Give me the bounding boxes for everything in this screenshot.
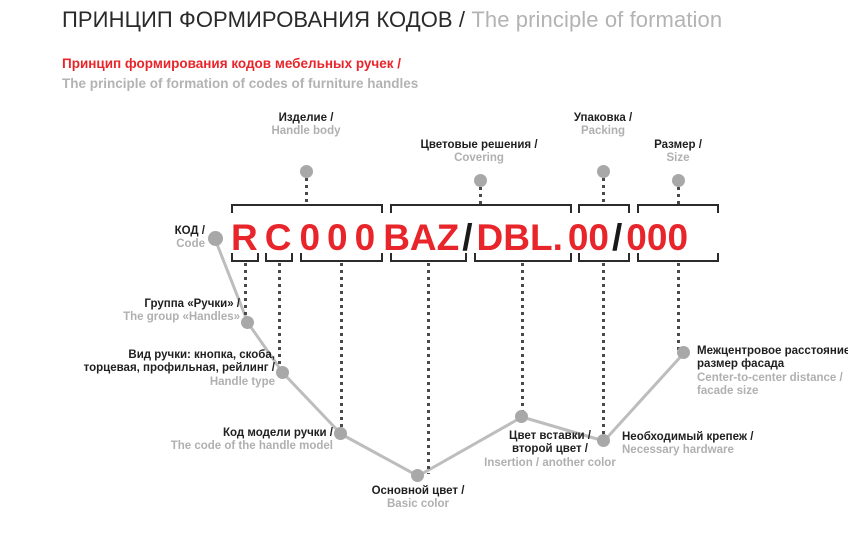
- bottom-bracket-center-distance: [637, 253, 719, 262]
- code-group-000: 000: [626, 219, 688, 256]
- label-hardware-en: Necessary hardware: [622, 444, 842, 457]
- bottom-bracket-group: [231, 253, 259, 262]
- label-handle-type: Вид ручки: кнопка, скоба, торцевая, проф…: [30, 349, 275, 389]
- code-slash-2: /: [612, 219, 622, 256]
- label-model-code-ru: Код модели ручки /: [128, 427, 333, 440]
- label-handle-type-en: Handle type: [30, 376, 275, 389]
- node-hardware: [597, 434, 610, 447]
- label-size-ru: Размер /: [578, 139, 778, 152]
- label-handle-body: Изделие / Handle body: [206, 112, 406, 139]
- leader-dots-hardware: [602, 263, 605, 439]
- label-group-handles: Группа «Ручки» / The group «Handles»: [42, 298, 240, 325]
- node-model-code: [334, 427, 347, 440]
- leader-dots-size: [677, 187, 680, 204]
- code-char-c: C: [265, 219, 292, 256]
- leader-dots-insertion: [521, 263, 524, 415]
- node-center-distance: [677, 346, 690, 359]
- label-insertion-color: Цвет вставки / второй цвет / Insertion /…: [450, 430, 650, 470]
- page-title-en: The principle of formation: [471, 7, 722, 32]
- code-char-r: R: [231, 219, 258, 256]
- node-basic-color: [411, 469, 424, 482]
- node-code: [208, 231, 223, 246]
- code-dot: .: [553, 219, 563, 256]
- code-char-0a: 0: [299, 219, 320, 256]
- label-hardware-ru: Необходимый крепеж /: [622, 431, 842, 444]
- code-char-0c: 0: [355, 219, 376, 256]
- top-bracket-size: [637, 204, 719, 213]
- label-center-distance-ru-2: размер фасада: [697, 358, 848, 371]
- code-group-dbl: DBL: [477, 219, 553, 256]
- label-insertion-color-ru-2: второй цвет /: [450, 443, 650, 456]
- bottom-bracket-model-code: [300, 253, 383, 262]
- leader-dots-handle-body: [305, 178, 308, 204]
- label-basic-color: Основной цвет / Basic color: [318, 485, 518, 512]
- node-handle-body: [300, 165, 313, 178]
- bottom-bracket-hardware: [578, 253, 630, 262]
- top-bracket-packing: [578, 204, 630, 213]
- node-size: [672, 174, 685, 187]
- label-basic-color-ru: Основной цвет /: [318, 485, 518, 498]
- label-packing-ru: Упаковка /: [503, 112, 703, 125]
- subtitle-ru: Принцип формирования кодов мебельных руч…: [62, 56, 401, 71]
- leader-dots-center-distance: [677, 263, 680, 351]
- code-char-0b: 0: [327, 219, 348, 256]
- page-title-ru: ПРИНЦИП ФОРМИРОВАНИЯ КОДОВ: [62, 7, 453, 32]
- code-group-baz: BAZ: [383, 219, 459, 256]
- label-hardware: Необходимый крепеж / Necessary hardware: [622, 431, 842, 458]
- leader-dots-handle-type: [278, 263, 281, 371]
- label-handle-body-en: Handle body: [206, 125, 406, 138]
- subtitle-en: The principle of formation of codes of f…: [62, 76, 418, 91]
- label-size: Размер / Size: [578, 139, 778, 166]
- label-covering-en: Covering: [379, 152, 579, 165]
- label-insertion-color-en: Insertion / another color: [450, 457, 650, 470]
- label-packing: Упаковка / Packing: [503, 112, 703, 139]
- leader-dots-covering: [479, 187, 482, 204]
- label-covering: Цветовые решения / Covering: [379, 139, 579, 166]
- label-model-code-en: The code of the handle model: [128, 440, 333, 453]
- node-handle-type: [276, 366, 289, 379]
- label-packing-en: Packing: [503, 125, 703, 138]
- top-bracket-covering: [390, 204, 572, 213]
- diagram-canvas: ПРИНЦИП ФОРМИРОВАНИЯ КОДОВ / The princip…: [0, 0, 848, 550]
- label-covering-ru: Цветовые решения /: [379, 139, 579, 152]
- label-center-distance-ru-1: Межцентровое расстояние /: [697, 345, 848, 358]
- label-center-distance-en-1: Center-to-center distance /: [697, 372, 848, 385]
- label-code: КОД / Code: [58, 225, 205, 252]
- node-insertion-color: [515, 410, 528, 423]
- label-basic-color-en: Basic color: [318, 498, 518, 511]
- label-group-handles-en: The group «Handles»: [42, 311, 240, 324]
- page-title: ПРИНЦИП ФОРМИРОВАНИЯ КОДОВ / The princip…: [62, 7, 722, 33]
- label-group-handles-ru: Группа «Ручки» /: [42, 298, 240, 311]
- label-center-distance: Межцентровое расстояние / размер фасада …: [697, 345, 848, 398]
- label-handle-type-ru-2: торцевая, профильная, рейлинг /: [30, 362, 275, 375]
- label-code-ru: КОД /: [58, 225, 205, 238]
- label-model-code: Код модели ручки / The code of the handl…: [128, 427, 333, 454]
- top-bracket-handle-body: [231, 204, 383, 213]
- label-insertion-color-ru-1: Цвет вставки /: [450, 430, 650, 443]
- page-title-separator: /: [453, 7, 472, 32]
- bottom-bracket-basic-color: [390, 253, 467, 262]
- leader-dots-model-code: [340, 263, 343, 433]
- label-code-en: Code: [58, 238, 205, 251]
- bottom-bracket-handle-type: [265, 253, 293, 262]
- leader-dots-group: [244, 263, 247, 321]
- code-group-00: 00: [568, 219, 609, 256]
- label-size-en: Size: [578, 152, 778, 165]
- node-packing: [597, 165, 610, 178]
- leader-dots-packing: [602, 178, 605, 204]
- bottom-bracket-insertion: [474, 253, 572, 262]
- leader-dots-basic-color: [427, 263, 430, 474]
- label-handle-body-ru: Изделие /: [206, 112, 406, 125]
- label-center-distance-en-2: facade size: [697, 385, 848, 398]
- node-covering: [474, 174, 487, 187]
- code-slash-1: /: [462, 219, 472, 256]
- node-group-handles: [241, 316, 254, 329]
- label-handle-type-ru-1: Вид ручки: кнопка, скоба,: [30, 349, 275, 362]
